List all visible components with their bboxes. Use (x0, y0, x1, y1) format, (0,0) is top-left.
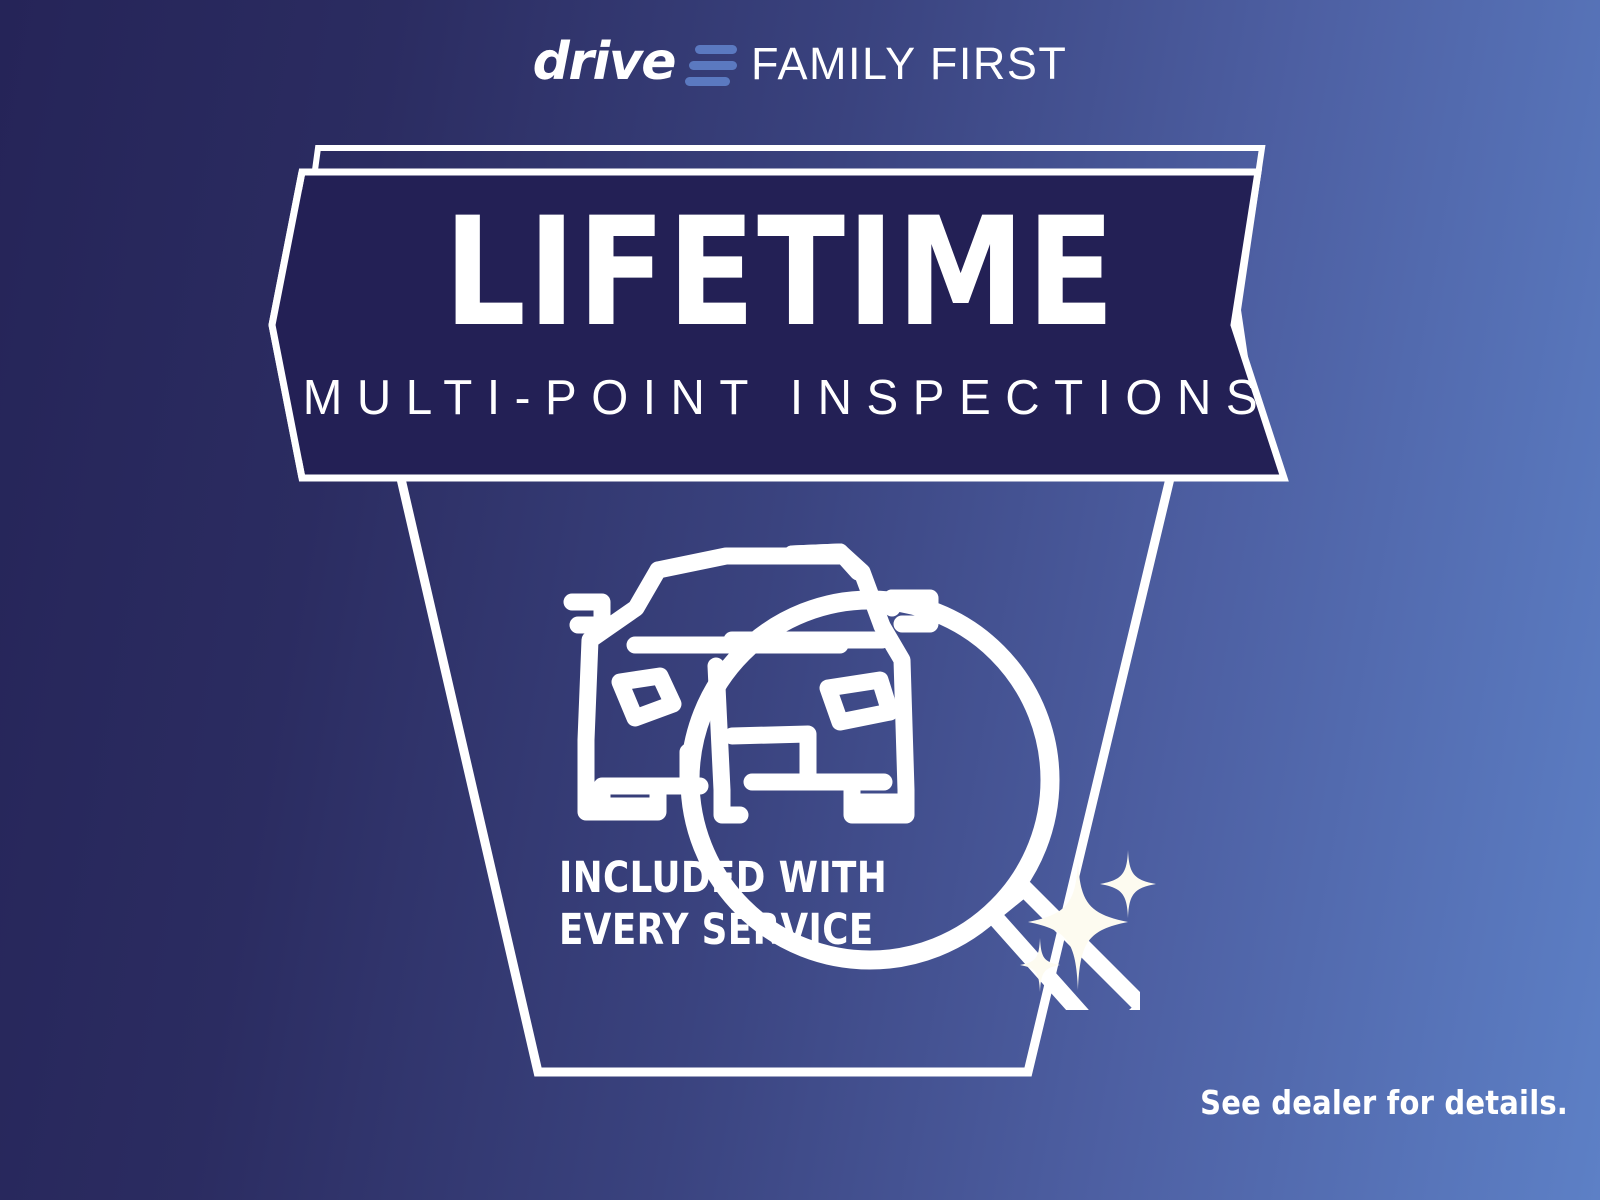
brand-wordmark: drive (533, 36, 675, 88)
brand-lockup: drive FAMILY FIRST (0, 30, 1600, 96)
car-front-main-icon (716, 552, 930, 815)
brand-tagline: FAMILY FIRST (751, 41, 1067, 86)
three-bars-icon (685, 45, 737, 86)
disclaimer-text: See dealer for details. (1200, 1083, 1568, 1122)
included-with-every-service-text: INCLUDED WITH EVERY SERVICE (559, 852, 887, 957)
sparkle-stars-icon (1000, 840, 1180, 1010)
